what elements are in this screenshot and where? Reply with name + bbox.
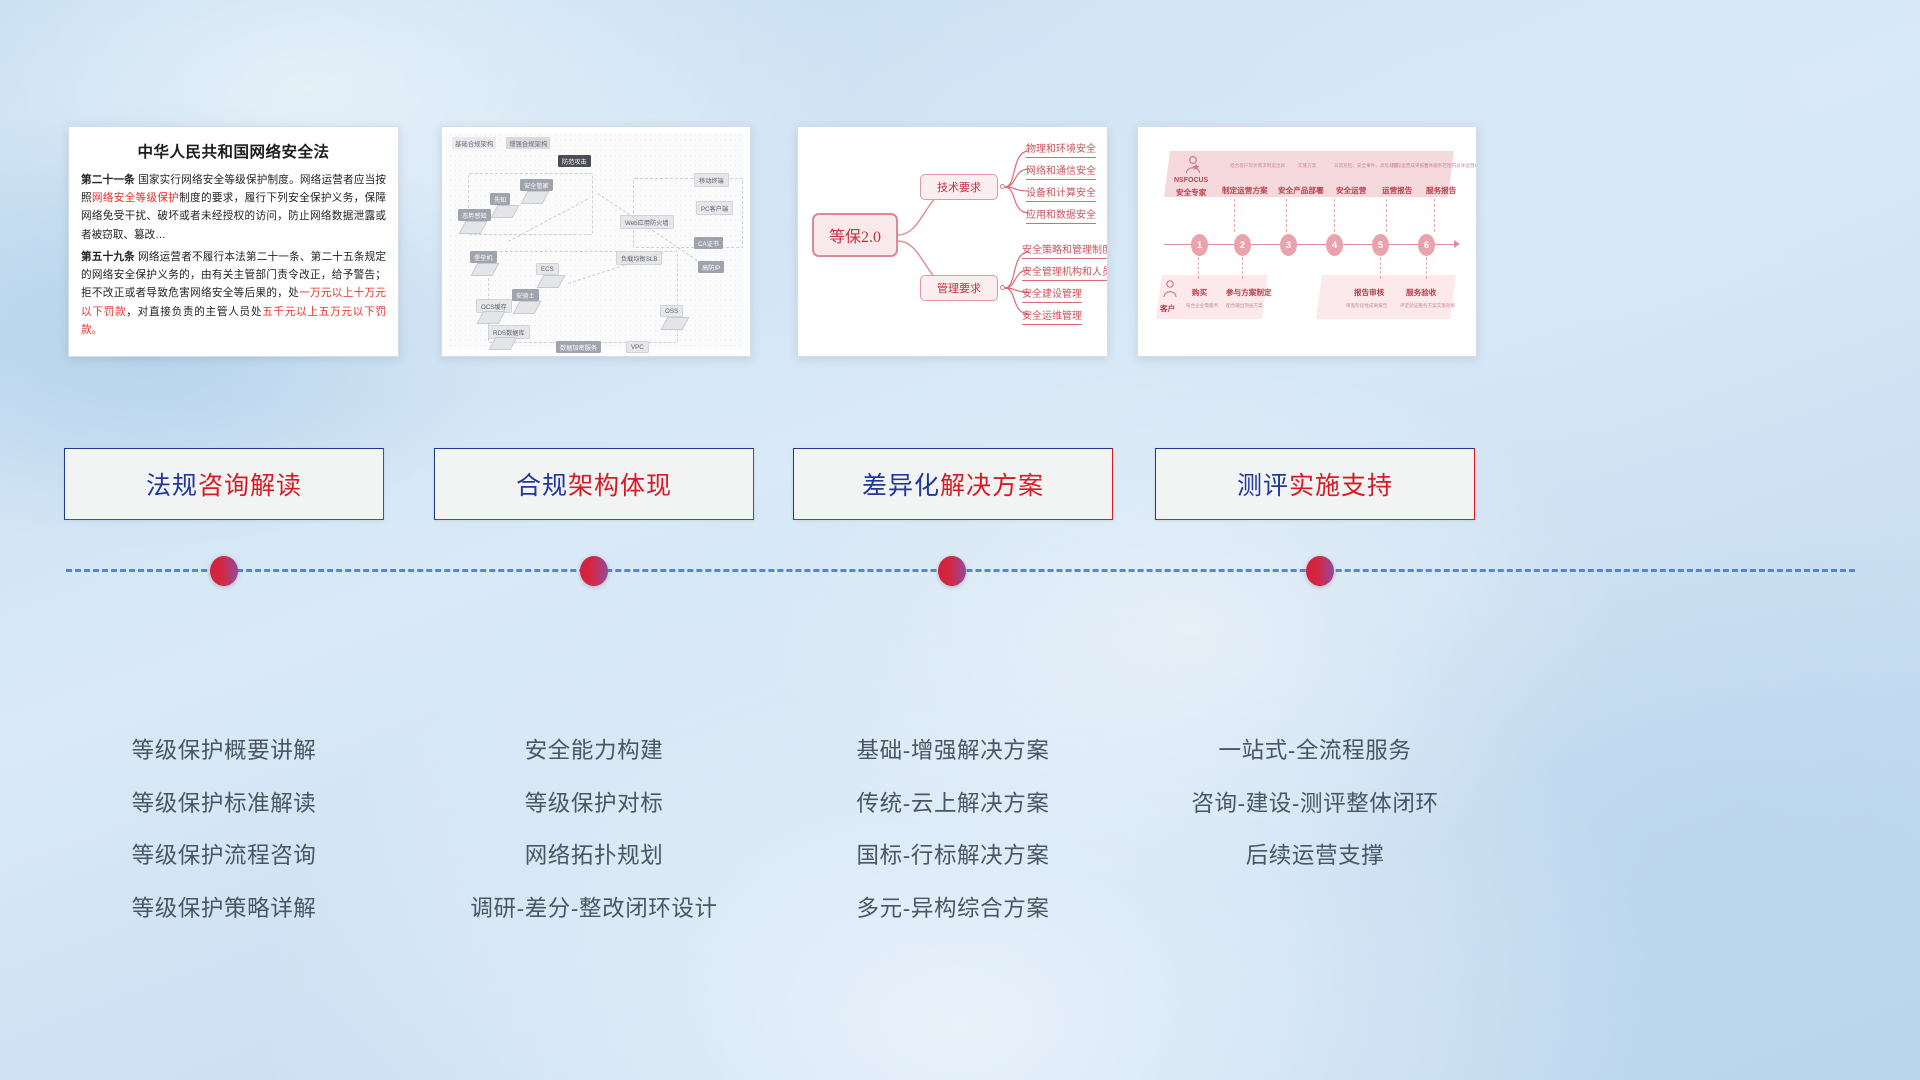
arch-node-situational-awareness: 态势感知 — [458, 209, 491, 221]
timeline-bottom-label-1: 购买 — [1192, 287, 1207, 298]
service-timeline-canvas: NSFOCUS 安全专家 结合客户现状需求制定出具 实施方案 日常巡检、安全事件… — [1138, 127, 1476, 356]
timeline-marker-1[interactable] — [210, 556, 238, 586]
timeline-strip — [0, 535, 1920, 625]
timeline-marker-2[interactable] — [580, 556, 608, 586]
list-item: 国标-行标解决方案 — [793, 845, 1113, 868]
law-title: 中华人民共和国网络安全法 — [69, 140, 398, 162]
timeline-step-5: 5 — [1372, 234, 1389, 256]
timeline-drop-b1 — [1198, 257, 1199, 279]
card-compliance-architecture[interactable]: 基础合规架构 增强合规架构 防范攻击 安全管家 先知 态势感知 堡垒机 Web应… — [441, 126, 751, 357]
law-article-59-label: 第五十九条 — [81, 251, 135, 263]
timeline-drop-5 — [1434, 199, 1435, 232]
arch-node-security-butler: 安全管家 — [520, 179, 553, 191]
expert-person-icon — [1184, 155, 1202, 175]
heading-boxes-row: 法规咨询解读 合规架构体现 差异化解决方案 测评实施支持 — [0, 448, 1920, 520]
list-item: 后续运营支撑 — [1155, 845, 1475, 868]
timeline-top-sub-3: 日常巡检、安全事件、高危处置 — [1334, 163, 1398, 169]
list-item: 咨询-建设-测评整体闭环 — [1155, 793, 1475, 816]
list-item: 传统-云上解决方案 — [793, 793, 1113, 816]
heading-2-red: 架构体现 — [568, 472, 672, 500]
arch-node-mobile: 移动终端 — [694, 173, 729, 187]
mindmap-leaf-policy-system: 安全策略和管理制度 — [1022, 241, 1108, 259]
timeline-top-label-5: 服务报告 — [1426, 185, 1456, 196]
timeline-top-label-1: 制定运营方案 — [1222, 185, 1268, 196]
timeline-step-1: 1 — [1191, 234, 1208, 256]
list-item: 等级保护流程咨询 — [64, 845, 384, 868]
mindmap-branch-management: 管理要求 — [920, 275, 998, 301]
list-item: 多元-异构综合方案 — [793, 898, 1113, 921]
expert-brand-label: NSFOCUS — [1174, 177, 1208, 184]
arch-node-data-encryption: 数据加密服务 — [556, 341, 601, 353]
law-article-59: 第五十九条 网络运营者不履行本法第二十一条、第二十五条规定的网络安全保护义务的，… — [81, 248, 386, 339]
timeline-step-6: 6 — [1418, 234, 1435, 256]
timeline-step-3: 3 — [1280, 234, 1297, 256]
arch-node-anqishi: 安骑士 — [512, 289, 539, 301]
feature-lists-row: 等级保护概要讲解 等级保护标准解读 等级保护流程咨询 等级保护策略详解 安全能力… — [0, 740, 1920, 970]
law-article-59-text-b: ，对直接负责的主管人员处 — [126, 306, 262, 318]
card-cybersecurity-law[interactable]: 中华人民共和国网络安全法 第二十一条 国家实行网络安全等级保护制度。网络运营者应… — [68, 126, 399, 357]
law-article-21-label: 第二十一条 — [81, 174, 135, 186]
timeline-marker-3[interactable] — [938, 556, 966, 586]
arch-node-defense: 防范攻击 — [558, 155, 591, 167]
customer-role-label: 客户 — [1160, 303, 1175, 314]
timeline-drop-2 — [1286, 199, 1287, 232]
mindmap-leaf-construction-mgmt: 安全建设管理 — [1022, 285, 1082, 303]
arch-node-anti-ddos-ip: 高防IP — [698, 261, 724, 273]
heading-text-1: 法规咨询解读 — [146, 466, 302, 502]
list-item: 等级保护概要讲解 — [64, 740, 384, 763]
heading-text-4: 测评实施支持 — [1237, 466, 1393, 502]
heading-box-1[interactable]: 法规咨询解读 — [64, 448, 384, 520]
timeline-bottom-sub-2: 配合输出顶层方案 — [1226, 303, 1263, 309]
heading-box-2[interactable]: 合规架构体现 — [434, 448, 754, 520]
timeline-drop-b3 — [1380, 257, 1381, 279]
law-article-21-highlight: 网络安全等级保护 — [92, 192, 179, 204]
expert-role-label: 安全专家 — [1176, 187, 1206, 198]
timeline-drop-b4 — [1426, 257, 1427, 279]
feature-list-3: 基础-增强解决方案 传统-云上解决方案 国标-行标解决方案 多元-异构综合方案 — [793, 740, 1113, 950]
timeline-drop-1 — [1234, 199, 1235, 232]
list-item: 一站式-全流程服务 — [1155, 740, 1475, 763]
arch-tab-enhanced[interactable]: 增强合规架构 — [506, 137, 550, 149]
heading-4-red: 实施支持 — [1289, 472, 1393, 500]
timeline-bottom-sub-3: 审查阶段性成果报告 — [1346, 303, 1387, 309]
arch-node-xianzhi: 先知 — [490, 193, 510, 205]
heading-1-red: 咨询解读 — [198, 472, 302, 500]
feature-list-2: 安全能力构建 等级保护对标 网络拓扑规划 调研-差分-整改闭环设计 — [434, 740, 754, 950]
timeline-step-2: 2 — [1234, 234, 1251, 256]
timeline-top-label-4: 运营报告 — [1382, 185, 1412, 196]
mindmap-leaf-physical-env: 物理和环境安全 — [1026, 140, 1096, 158]
list-item: 网络拓扑规划 — [434, 845, 754, 868]
heading-1-blue: 法规 — [146, 472, 198, 500]
mindmap-root: 等保2.0 — [812, 213, 898, 257]
heading-2-blue: 合规 — [516, 472, 568, 500]
list-item: 等级保护对标 — [434, 793, 754, 816]
architecture-diagram: 基础合规架构 增强合规架构 防范攻击 安全管家 先知 态势感知 堡垒机 Web应… — [448, 133, 744, 350]
mindmap-leaf-org-personnel: 安全管理机构和人员 — [1022, 263, 1108, 281]
arch-node-ca-cert: CA证书 — [694, 237, 723, 249]
arch-node-oss: OSS — [660, 305, 683, 317]
heading-box-4[interactable]: 测评实施支持 — [1155, 448, 1475, 520]
list-item: 等级保护策略详解 — [64, 898, 384, 921]
timeline-top-sub-2: 实施方案 — [1298, 163, 1316, 169]
law-body: 第二十一条 国家实行网络安全等级保护制度。网络运营者应当按照网络安全等级保护制度… — [69, 171, 398, 339]
card-service-timeline[interactable]: NSFOCUS 安全专家 结合客户现状需求制定出具 实施方案 日常巡检、安全事件… — [1137, 126, 1477, 357]
timeline-marker-4[interactable] — [1306, 556, 1334, 586]
list-item: 安全能力构建 — [434, 740, 754, 763]
mindmap-leaf-app-data: 应用和数据安全 — [1026, 206, 1096, 224]
law-article-21: 第二十一条 国家实行网络安全等级保护制度。网络运营者应当按照网络安全等级保护制度… — [81, 171, 386, 244]
mindmap-leaf-device-compute: 设备和计算安全 — [1026, 184, 1096, 202]
timeline-bottom-sub-4: 评定验证服务方案实施效果 — [1400, 303, 1455, 309]
timeline-top-label-3: 安全运营 — [1336, 185, 1366, 196]
arch-node-pc-client: PC客户端 — [696, 201, 733, 215]
timeline-bottom-label-4: 服务验收 — [1406, 287, 1436, 298]
timeline-axis-arrow — [1454, 240, 1460, 248]
list-item: 基础-增强解决方案 — [793, 740, 1113, 763]
timeline-drop-b2 — [1242, 257, 1243, 279]
mindmap-leaf-network-comm: 网络和通信安全 — [1026, 162, 1096, 180]
timeline-top-label-2: 安全产品部署 — [1278, 185, 1324, 196]
arch-node-slb: 负载均衡SLB — [616, 251, 662, 265]
timeline-top-sub-1: 结合客户现状需求制定出具 — [1230, 163, 1285, 169]
heading-3-red: 解决方案 — [940, 472, 1044, 500]
list-item: 调研-差分-整改闭环设计 — [434, 898, 754, 921]
mindmap-branch-technical: 技术要求 — [920, 174, 998, 200]
arch-node-ecs: ECS — [536, 263, 559, 275]
feature-list-1: 等级保护概要讲解 等级保护标准解读 等级保护流程咨询 等级保护策略详解 — [64, 740, 384, 950]
timeline-bottom-label-2: 参与方案制定 — [1226, 287, 1272, 298]
heading-text-2: 合规架构体现 — [516, 466, 672, 502]
screenshot-cards-row: 中华人民共和国网络安全法 第二十一条 国家实行网络安全等级保护制度。网络运营者应… — [0, 126, 1920, 366]
arch-node-vpc: VPC — [626, 341, 649, 353]
timeline-drop-3 — [1334, 199, 1335, 232]
arch-tab-basic[interactable]: 基础合规架构 — [452, 137, 496, 149]
heading-4-blue: 测评 — [1237, 472, 1289, 500]
heading-text-3: 差异化解决方案 — [862, 466, 1044, 502]
timeline-step-4: 4 — [1326, 234, 1343, 256]
heading-3-blue: 差异化 — [862, 472, 940, 500]
timeline-drop-4 — [1386, 199, 1387, 232]
card-mindmap-dengbao[interactable]: 等保2.0 技术要求 物理和环境安全 网络和通信安全 设备和计算安全 应用和数据… — [797, 126, 1108, 357]
slide-canvas: 中华人民共和国网络安全法 第二十一条 国家实行网络安全等级保护制度。网络运营者应… — [0, 0, 1920, 1080]
mindmap-canvas: 等保2.0 技术要求 物理和环境安全 网络和通信安全 设备和计算安全 应用和数据… — [798, 127, 1107, 356]
timeline-top-sub-5: 总体服务范围内总体运营成果 — [1424, 163, 1477, 169]
list-item: 等级保护标准解读 — [64, 793, 384, 816]
timeline-bottom-sub-1: 符合企业需服务 — [1186, 303, 1218, 309]
arch-node-bastion: 堡垒机 — [470, 251, 497, 263]
customer-person-icon — [1162, 279, 1178, 299]
heading-box-3[interactable]: 差异化解决方案 — [793, 448, 1113, 520]
mindmap-leaf-ops-mgmt: 安全运维管理 — [1022, 307, 1082, 325]
timeline-bottom-label-3: 报告审核 — [1354, 287, 1384, 298]
feature-list-4: 一站式-全流程服务 咨询-建设-测评整体闭环 后续运营支撑 — [1155, 740, 1475, 898]
